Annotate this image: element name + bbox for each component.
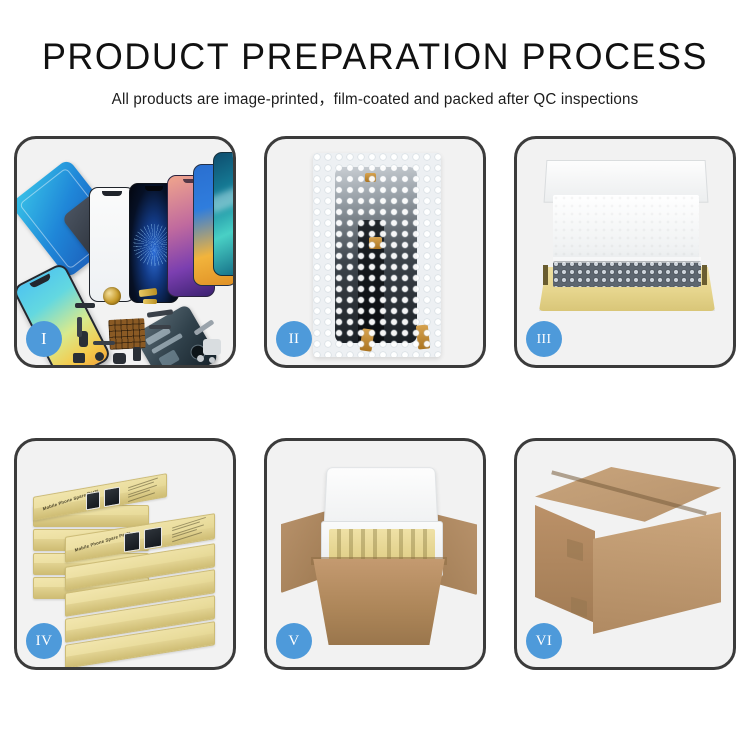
step-panel-6: VI (514, 438, 736, 670)
screw-icon (209, 357, 215, 363)
bubble-wrap-bag-icon (313, 153, 441, 357)
carton-right-face (593, 512, 721, 634)
bubble-padding-icon (553, 261, 701, 287)
box-screen-graphic (104, 486, 120, 507)
product-preparation-page: PRODUCT PREPARATION PROCESS All products… (0, 0, 750, 750)
step-badge-2: II (276, 321, 312, 357)
box-stack: Mobile Phone Spare Parts Mobile Phone Sp… (33, 463, 229, 653)
process-step-grid: I II (14, 136, 736, 692)
box-spec-lines (128, 479, 162, 502)
foam-edge-icon (553, 257, 701, 263)
small-part-icon (75, 303, 95, 308)
small-part-icon (133, 347, 141, 361)
flex-cable-icon (77, 317, 82, 337)
teal-gradient-phone-icon (213, 152, 236, 276)
small-part-icon (73, 353, 85, 363)
small-part-icon (113, 353, 126, 364)
shipping-carton-icon (535, 467, 721, 635)
step-panel-4: Mobile Phone Spare Parts Mobile Phone Sp… (14, 438, 236, 670)
box-corner-icon (702, 265, 707, 285)
step-panel-3: III (514, 136, 736, 368)
gold-tab-icon (416, 324, 430, 349)
gold-coil-part-icon (103, 287, 121, 305)
step-badge-1: I (26, 321, 62, 357)
carton-body-icon (309, 559, 449, 645)
page-header: PRODUCT PREPARATION PROCESS All products… (0, 0, 750, 109)
step-panel-2: II (264, 136, 486, 368)
carton-tape-icon (571, 597, 587, 618)
gold-tab-icon (369, 237, 382, 249)
page-subtitle: All products are image-printed，film-coat… (6, 87, 745, 109)
step-badge-3: III (526, 321, 562, 357)
screen-assembly-icon (335, 167, 417, 343)
step-panel-5: V (264, 438, 486, 670)
step-badge-4: IV (26, 623, 62, 659)
gold-tab-icon (360, 328, 375, 351)
box-screen-graphic (86, 491, 100, 510)
gold-connector-icon (143, 299, 157, 304)
flex-cable-icon (149, 325, 171, 329)
box-screen-graphic (144, 527, 162, 550)
box-corner-icon (543, 265, 548, 285)
step-badge-5: V (276, 623, 312, 659)
flex-cable-icon (93, 341, 115, 345)
small-part-icon (95, 352, 104, 361)
gold-tab-icon (365, 173, 376, 182)
chip-grid-part-icon (108, 318, 146, 350)
box-screen-graphic (124, 531, 140, 553)
page-title: PRODUCT PREPARATION PROCESS (11, 38, 739, 77)
step-panel-1: I (14, 136, 236, 368)
screw-icon (197, 355, 204, 362)
tool-icon (203, 339, 221, 355)
step-badge-6: VI (526, 623, 562, 659)
